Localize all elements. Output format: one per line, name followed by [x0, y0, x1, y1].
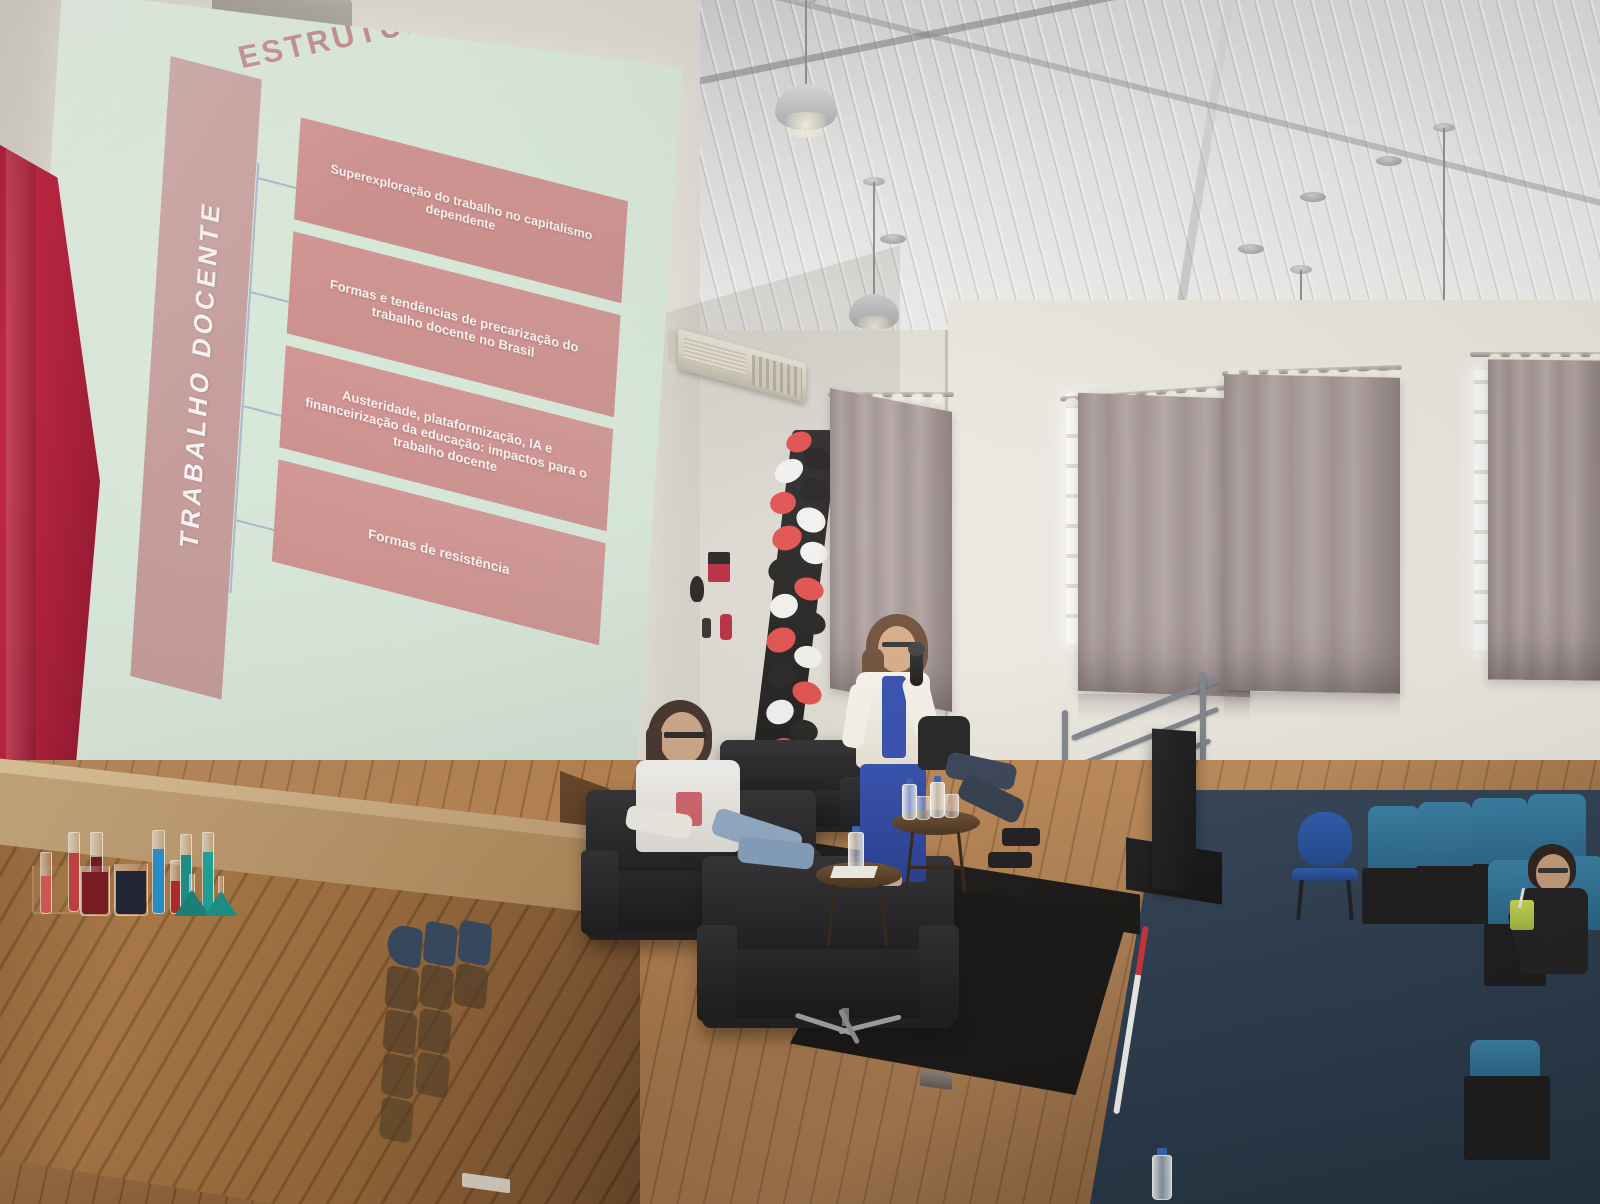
leg-jeans — [737, 836, 815, 870]
chemistry-glassware — [14, 818, 244, 928]
water-bottle — [930, 776, 945, 818]
erlenmeyer-flask — [204, 876, 238, 916]
drinking-glass — [916, 796, 931, 820]
window-light — [1474, 370, 1488, 650]
beaker — [114, 864, 148, 916]
water-bottle — [902, 778, 917, 820]
audience-member — [1508, 844, 1600, 984]
test-tube — [152, 830, 165, 914]
wall-decorations — [690, 552, 750, 662]
test-tube — [68, 832, 80, 912]
water-bottle-floor — [1152, 1148, 1172, 1200]
projection-screen: ESTRUTURA DA EXPOSIÇÃO TRABALHO DOCENTE … — [62, 0, 682, 780]
ceiling-mount — [1376, 156, 1402, 166]
shoe — [1002, 828, 1040, 846]
institution-logo — [370, 909, 520, 1172]
curtain — [1224, 374, 1400, 694]
decor-letter-icon — [708, 552, 730, 582]
drink-cup — [1510, 900, 1534, 930]
drinking-glass — [944, 794, 959, 818]
speaker-tower — [1152, 728, 1196, 891]
glasses-icon — [1538, 868, 1568, 873]
decor-shape-icon — [702, 618, 711, 638]
ceiling-mount — [1238, 244, 1264, 254]
curtain — [1488, 359, 1600, 680]
glasses-icon — [664, 732, 706, 738]
chair-swivel-base — [790, 1008, 906, 1050]
beaker — [80, 866, 110, 916]
ceiling-mount — [880, 234, 906, 244]
napkin — [830, 866, 878, 878]
decor-shape-icon — [690, 576, 704, 602]
blue-chair — [1290, 812, 1360, 920]
pendant-lamp — [773, 0, 839, 136]
seated-panelist — [620, 700, 810, 870]
side-table — [892, 810, 980, 894]
screenshot-root: ESTRUTURA DA EXPOSIÇÃO TRABALHO DOCENTE … — [0, 0, 1600, 1204]
slide-surface: ESTRUTURA DA EXPOSIÇÃO TRABALHO DOCENTE … — [11, 0, 682, 858]
test-tube — [40, 852, 52, 914]
audience-seat-row — [1470, 1040, 1600, 1160]
decor-shape-icon — [720, 614, 732, 640]
ceiling-mount — [1300, 192, 1326, 202]
microphone-head — [908, 642, 925, 656]
shoe — [988, 852, 1032, 868]
